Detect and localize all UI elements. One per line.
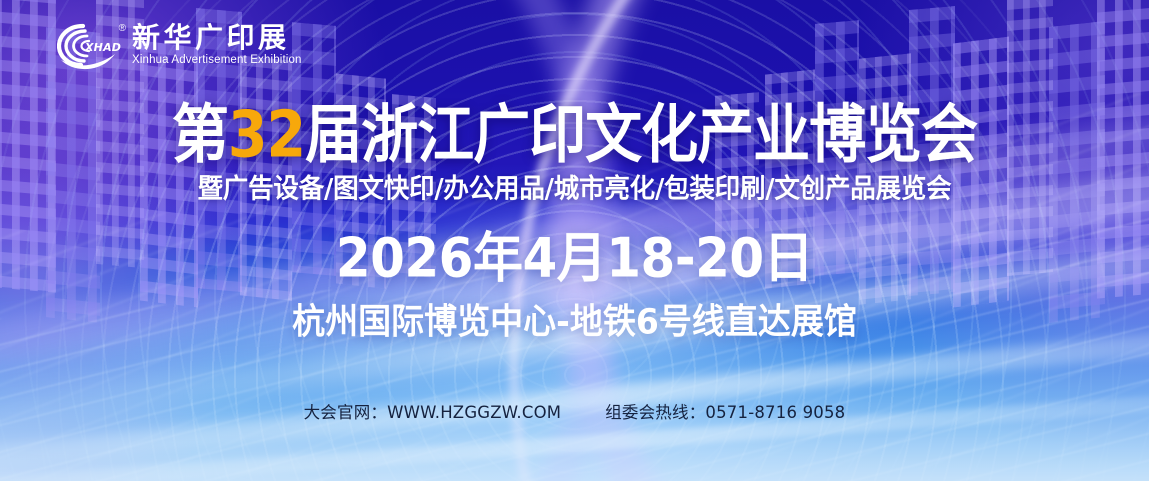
xhad-wave-logo-icon: XHAD ®	[57, 20, 123, 70]
exhibition-banner: XHAD ® 新华广印展 Xinhua Advertisement Exhibi…	[0, 0, 1149, 481]
event-headline: 第32届浙江广印文化产业博览会	[0, 104, 1149, 168]
event-venue: 杭州国际博览中心-地铁6号线直达展馆	[0, 304, 1149, 339]
organizer-hotline[interactable]: 组委会热线：0571-8716 9058	[605, 399, 845, 423]
brand-logo-text: 新华广印展 Xinhua Advertisement Exhibition	[132, 23, 302, 66]
footer-contact-bar: 大会官网：WWW.HZGGZW.COM 组委会热线：0571-8716 9058	[0, 399, 1149, 423]
banner-content: XHAD ® 新华广印展 Xinhua Advertisement Exhibi…	[0, 0, 1149, 481]
headline-prefix: 第	[172, 98, 228, 172]
headline-suffix: 届浙江广印文化产业博览会	[305, 98, 977, 172]
brand-name-en: Xinhua Advertisement Exhibition	[132, 55, 302, 67]
registered-trademark-icon: ®	[119, 24, 126, 34]
organizer-hotline-label: 组委会热线：	[605, 399, 705, 423]
official-website-label: 大会官网：	[304, 399, 388, 423]
organizer-hotline-value: 0571-8716 9058	[705, 403, 845, 422]
official-website-value: WWW.HZGGZW.COM	[387, 403, 561, 422]
brand-logo[interactable]: XHAD ® 新华广印展 Xinhua Advertisement Exhibi…	[57, 20, 302, 70]
svg-text:XHAD: XHAD	[84, 41, 121, 54]
official-website[interactable]: 大会官网：WWW.HZGGZW.COM	[304, 399, 562, 423]
event-date: 2026年4月18-20日	[0, 231, 1149, 285]
headline-block: 第32届浙江广印文化产业博览会 暨广告设备/图文快印/办公用品/城市亮化/包装印…	[0, 104, 1149, 203]
brand-name-cn: 新华广印展	[132, 23, 302, 53]
headline-edition-number: 32	[228, 98, 305, 172]
event-subheadline: 暨广告设备/图文快印/办公用品/城市亮化/包装印刷/文创产品展览会	[0, 176, 1149, 203]
